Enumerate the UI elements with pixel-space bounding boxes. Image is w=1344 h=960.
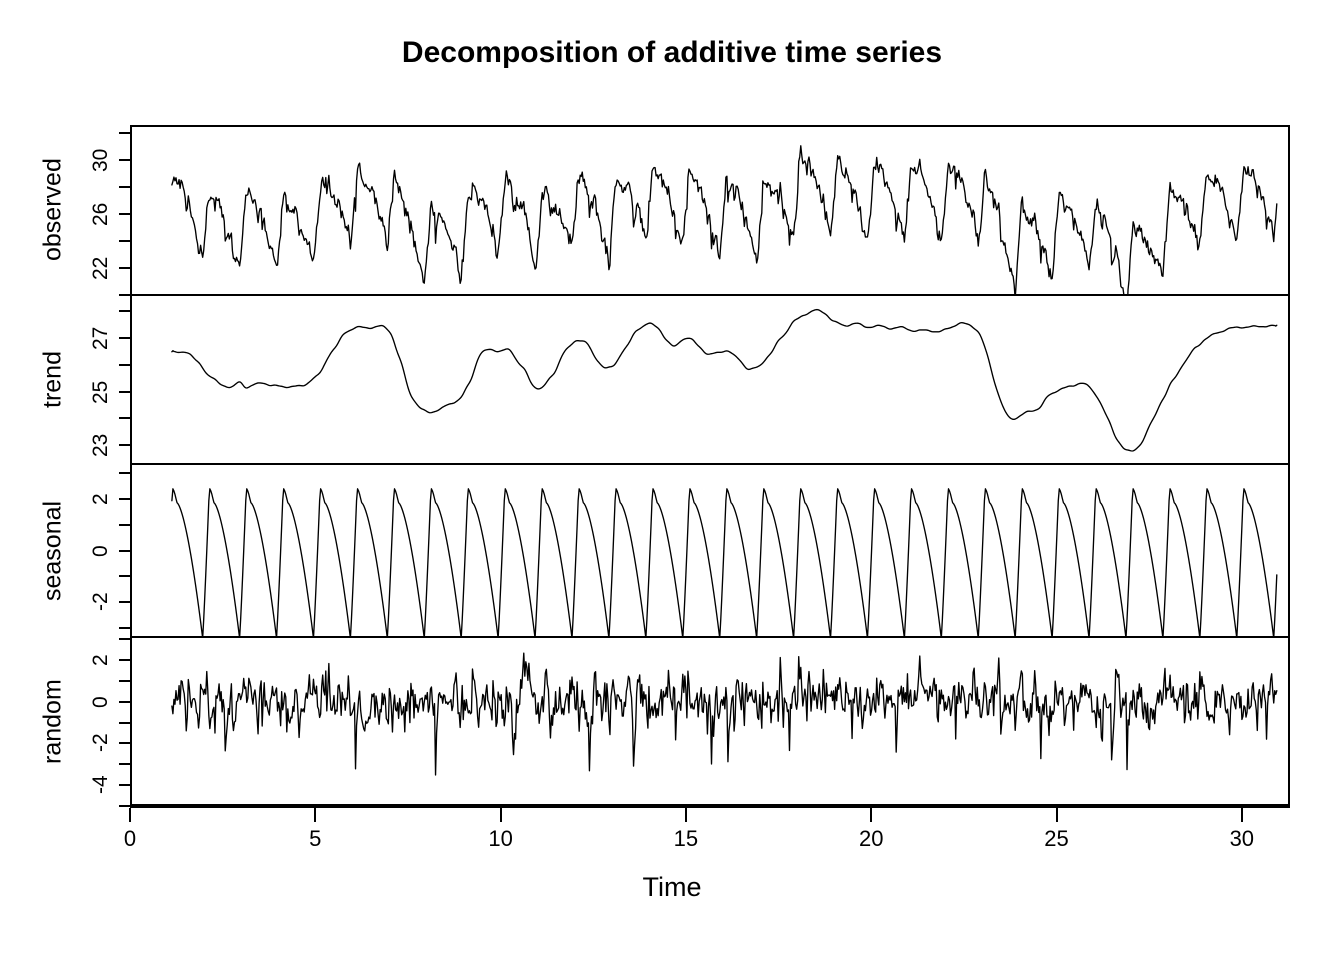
series-random-svg (132, 637, 1288, 804)
y-axis-tick-label: 27 (90, 316, 116, 360)
x-axis-line (130, 806, 1290, 808)
panel-trend (130, 295, 1290, 464)
y-axis-tick-label: 2 (90, 638, 116, 682)
y-axis-tick-minor (119, 763, 130, 765)
y-axis-tick-minor (119, 627, 130, 629)
y-axis-tick-minor (119, 680, 130, 682)
y-axis-title-observed: observed (36, 125, 70, 295)
panel-seasonal (130, 464, 1290, 637)
series-trend-svg (132, 295, 1288, 464)
y-axis-tick-major (119, 784, 130, 786)
panel-observed (130, 125, 1290, 295)
x-axis-tick-label: 10 (488, 826, 512, 852)
x-axis-tick-label: 5 (309, 826, 321, 852)
plot-area (130, 125, 1290, 806)
y-axis-tick-major (119, 267, 130, 269)
y-axis-tick-minor (119, 524, 130, 526)
y-axis-tick-label: 0 (90, 529, 116, 573)
y-axis-tick-major (119, 601, 130, 603)
y-axis-tick-major (119, 701, 130, 703)
y-axis-tick-label: 25 (90, 370, 116, 414)
x-axis-tick (500, 808, 502, 822)
y-axis-title-seasonal: seasonal (36, 464, 70, 637)
x-axis-title: Time (0, 872, 1344, 903)
y-axis-tick-minor (119, 132, 130, 134)
x-axis-tick (870, 808, 872, 822)
y-axis-tick-major (119, 391, 130, 393)
y-axis-tick-major (119, 659, 130, 661)
series-observed-svg (132, 127, 1288, 295)
series-line-random (172, 653, 1277, 775)
y-axis-tick-minor (119, 575, 130, 577)
y-axis-tick-minor (119, 472, 130, 474)
page-title: Decomposition of additive time series (0, 36, 1344, 70)
y-axis-tick-major (119, 444, 130, 446)
y-axis-tick-minor (119, 294, 130, 296)
y-axis-tick-major (119, 159, 130, 161)
y-axis-tick-minor (119, 240, 130, 242)
y-axis-tick-major (119, 213, 130, 215)
x-axis-tick-label: 15 (674, 826, 698, 852)
x-axis-tick (314, 808, 316, 822)
x-axis-tick (1241, 808, 1243, 822)
y-axis-tick-major (119, 337, 130, 339)
chart-canvas: Decomposition of additive time series ob… (0, 0, 1344, 960)
y-axis-tick-label: -4 (90, 763, 116, 807)
x-axis-tick (1056, 808, 1058, 822)
y-axis-title-random: random (36, 637, 70, 806)
y-axis-tick-major (119, 498, 130, 500)
series-line-trend (172, 310, 1277, 451)
x-axis-tick-label: 0 (124, 826, 136, 852)
y-axis-tick-minor (119, 638, 130, 640)
y-axis-tick-label: 30 (90, 138, 116, 182)
y-axis-tick-label: 2 (90, 477, 116, 521)
y-axis-tick-label: -2 (90, 721, 116, 765)
y-axis-tick-minor (119, 805, 130, 807)
y-axis-tick-minor (119, 417, 130, 419)
y-axis-tick-major (119, 550, 130, 552)
y-axis-tick-label: 0 (90, 680, 116, 724)
x-axis-tick (129, 808, 131, 822)
series-seasonal-svg (132, 464, 1288, 637)
y-axis-title-trend: trend (36, 295, 70, 464)
y-axis-tick-major (119, 742, 130, 744)
series-line-seasonal (172, 489, 1277, 637)
x-axis-tick (685, 808, 687, 822)
y-axis-tick-label: 26 (90, 192, 116, 236)
y-axis-tick-label: 22 (90, 246, 116, 290)
series-line-observed (172, 146, 1277, 295)
panel-random (130, 637, 1290, 806)
x-axis-tick-label: 25 (1044, 826, 1068, 852)
y-axis-tick-minor (119, 364, 130, 366)
y-axis-tick-label: 23 (90, 423, 116, 467)
y-axis-tick-label: -2 (90, 580, 116, 624)
y-axis-tick-minor (119, 186, 130, 188)
x-axis-tick-label: 20 (859, 826, 883, 852)
y-axis-tick-minor (119, 310, 130, 312)
x-axis-tick-label: 30 (1230, 826, 1254, 852)
y-axis-tick-minor (119, 722, 130, 724)
